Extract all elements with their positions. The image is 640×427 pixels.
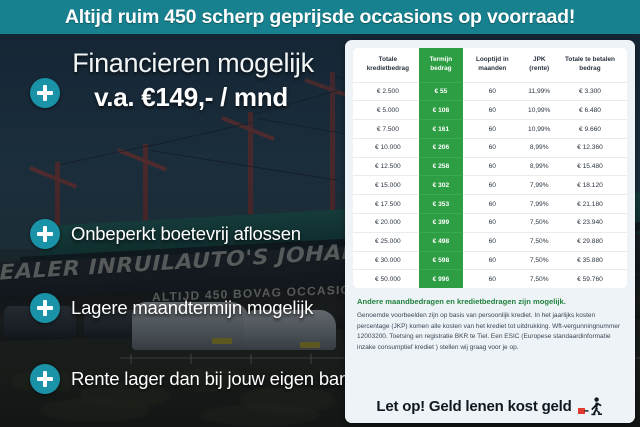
table-cell-r0-c4: € 3.300 — [557, 82, 627, 101]
table-cell-r2-c2: 60 — [463, 120, 521, 139]
bullet-label: Lagere maandtermijn mogelijk — [71, 297, 313, 319]
running-man-pulling-block-icon — [578, 397, 604, 417]
table-cell-r2-c0: € 7.500 — [353, 120, 419, 139]
table-cell-r5-c4: € 18.120 — [557, 176, 627, 195]
plus-circle-icon — [30, 293, 60, 323]
table-cell-r7-c1: € 399 — [419, 214, 463, 233]
plus-circle-icon — [30, 78, 60, 108]
table-cell-r9-c1: € 598 — [419, 251, 463, 270]
bullet-item-0: Onbeperkt boetevrij aflossen — [30, 219, 350, 249]
table-cell-r4-c0: € 12.500 — [353, 157, 419, 176]
column-header-4: Totale te betalen bedrag — [557, 48, 627, 82]
table-cell-r4-c4: € 15.480 — [557, 157, 627, 176]
rate-table-card: Totale kredietbedrag Termijn bedrag Loop… — [345, 40, 635, 423]
plus-circle-icon — [30, 364, 60, 394]
table-cell-r10-c3: 7,50% — [522, 270, 557, 288]
table-cell-r6-c2: 60 — [463, 195, 521, 214]
bullet-label: Onbeperkt boetevrij aflossen — [71, 223, 301, 245]
table-row: € 25.000€ 498607,50%€ 29.880 — [353, 232, 627, 251]
table-cell-r8-c2: 60 — [463, 232, 521, 251]
table-cell-r8-c3: 7,50% — [522, 232, 557, 251]
table-cell-r10-c4: € 59.760 — [557, 270, 627, 288]
table-cell-r0-c3: 11,99% — [522, 82, 557, 101]
plus-circle-icon — [30, 219, 60, 249]
table-cell-r0-c1: € 55 — [419, 82, 463, 101]
table-row: € 30.000€ 598607,50%€ 35.880 — [353, 251, 627, 270]
column-header-1: Termijn bedrag — [419, 48, 463, 82]
note-title: Andere maandbedragen en kredietbedragen … — [357, 297, 623, 307]
table-cell-r10-c1: € 996 — [419, 270, 463, 288]
table-cell-r5-c0: € 15.000 — [353, 176, 419, 195]
table-cell-r1-c0: € 5.000 — [353, 101, 419, 120]
table-cell-r3-c2: 60 — [463, 138, 521, 157]
table-cell-r3-c0: € 10.000 — [353, 138, 419, 157]
table-cell-r0-c0: € 2.500 — [353, 82, 419, 101]
loan-warning-bar: Let op! Geld lenen kost geld — [345, 390, 635, 423]
table-cell-r9-c3: 7,50% — [522, 251, 557, 270]
financing-promo-banner: Altijd ruim 450 scherp geprijsde occasio… — [0, 0, 640, 427]
table-cell-r6-c0: € 17.500 — [353, 195, 419, 214]
loan-warning-text: Let op! Geld lenen kost geld — [376, 398, 571, 415]
table-row: € 15.000€ 302607,99%€ 18.120 — [353, 176, 627, 195]
table-cell-r7-c4: € 23.940 — [557, 214, 627, 233]
table-cell-r3-c4: € 12.360 — [557, 138, 627, 157]
table-row: € 50.000€ 996607,50%€ 59.760 — [353, 270, 627, 288]
table-cell-r6-c3: 7,99% — [522, 195, 557, 214]
top-banner-text: Altijd ruim 450 scherp geprijsde occasio… — [65, 6, 575, 29]
headline-line-1: Financieren mogelijk — [44, 48, 342, 79]
table-row: € 20.000€ 399607,50%€ 23.940 — [353, 214, 627, 233]
column-header-0: Totale kredietbedrag — [353, 48, 419, 82]
table-cell-r8-c1: € 498 — [419, 232, 463, 251]
table-cell-r7-c2: 60 — [463, 214, 521, 233]
column-header-2: Looptijd in maanden — [463, 48, 521, 82]
table-cell-r4-c1: € 258 — [419, 157, 463, 176]
table-cell-r5-c1: € 302 — [419, 176, 463, 195]
table-cell-r3-c3: 8,99% — [522, 138, 557, 157]
table-cell-r8-c4: € 29.880 — [557, 232, 627, 251]
table-cell-r2-c4: € 9.660 — [557, 120, 627, 139]
table-cell-r2-c1: € 161 — [419, 120, 463, 139]
bullet-item-financing — [30, 78, 350, 108]
table-cell-r10-c0: € 50.000 — [353, 270, 419, 288]
table-row: € 12.500€ 258608,99%€ 15.480 — [353, 157, 627, 176]
bullet-label: Rente lager dan bij jouw eigen bank — [71, 368, 358, 390]
column-header-3: JPK (rente) — [522, 48, 557, 82]
table-cell-r3-c1: € 206 — [419, 138, 463, 157]
table-cell-r0-c2: 60 — [463, 82, 521, 101]
table-cell-r9-c2: 60 — [463, 251, 521, 270]
left-content-column: Financieren mogelijk v.a. €149,- / mnd O… — [0, 34, 348, 427]
table-cell-r5-c2: 60 — [463, 176, 521, 195]
rate-table-body: € 2.500€ 556011,99%€ 3.300€ 5.000€ 10860… — [353, 82, 627, 288]
table-cell-r1-c1: € 108 — [419, 101, 463, 120]
table-cell-r7-c3: 7,50% — [522, 214, 557, 233]
rate-table: Totale kredietbedrag Termijn bedrag Loop… — [353, 48, 627, 288]
note-body: Genoemde voorbeelden zijn op basis van p… — [357, 311, 623, 353]
table-cell-r6-c1: € 353 — [419, 195, 463, 214]
table-row: € 10.000€ 206608,99%€ 12.360 — [353, 138, 627, 157]
rate-table-wrapper: Totale kredietbedrag Termijn bedrag Loop… — [353, 48, 627, 288]
bullet-item-1: Lagere maandtermijn mogelijk — [30, 293, 350, 323]
table-cell-r1-c3: 10,99% — [522, 101, 557, 120]
table-cell-r8-c0: € 25.000 — [353, 232, 419, 251]
bullet-item-2: Rente lager dan bij jouw eigen bank — [30, 364, 350, 394]
table-row: € 7.500€ 1616010,99%€ 9.660 — [353, 120, 627, 139]
table-cell-r10-c2: 60 — [463, 270, 521, 288]
table-cell-r1-c4: € 6.480 — [557, 101, 627, 120]
table-cell-r1-c2: 60 — [463, 101, 521, 120]
top-banner-bar: Altijd ruim 450 scherp geprijsde occasio… — [0, 0, 640, 34]
table-cell-r9-c0: € 30.000 — [353, 251, 419, 270]
table-cell-r4-c3: 8,99% — [522, 157, 557, 176]
table-row: € 5.000€ 1086010,99%€ 6.480 — [353, 101, 627, 120]
table-cell-r9-c4: € 35.880 — [557, 251, 627, 270]
table-row: € 17.500€ 353607,99%€ 21.180 — [353, 195, 627, 214]
table-cell-r2-c3: 10,99% — [522, 120, 557, 139]
table-cell-r4-c2: 60 — [463, 157, 521, 176]
table-cell-r5-c3: 7,99% — [522, 176, 557, 195]
table-cell-r7-c0: € 20.000 — [353, 214, 419, 233]
table-cell-r6-c4: € 21.180 — [557, 195, 627, 214]
table-row: € 2.500€ 556011,99%€ 3.300 — [353, 82, 627, 101]
table-header-row: Totale kredietbedrag Termijn bedrag Loop… — [353, 48, 627, 82]
